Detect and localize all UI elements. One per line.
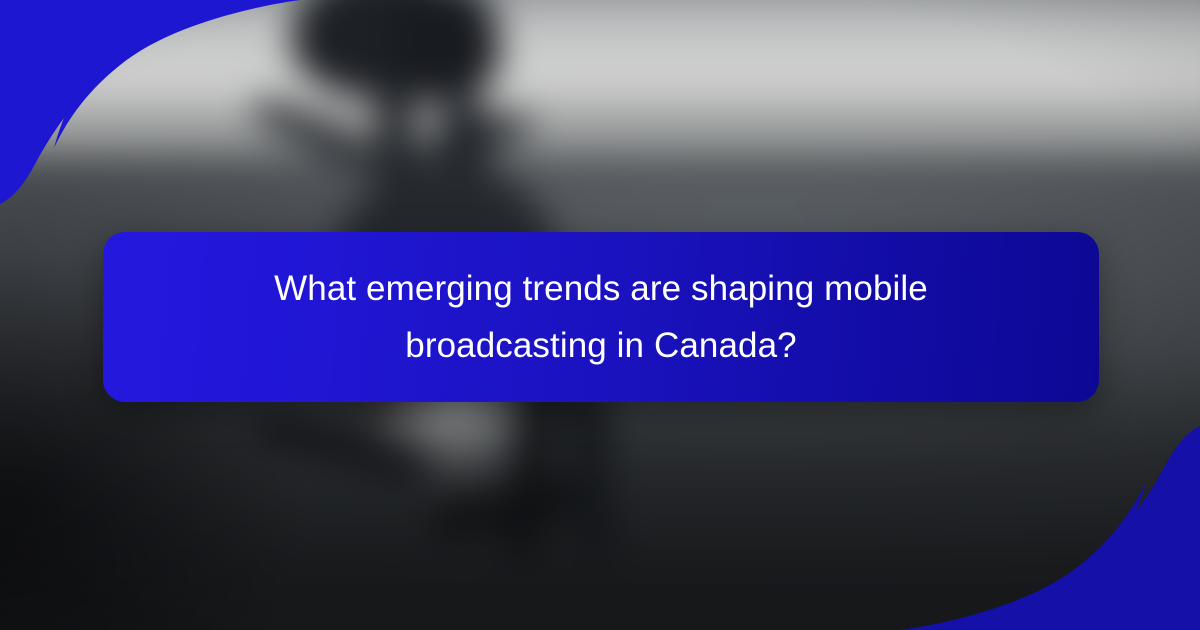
question-card: What emerging trends are shaping mobile …: [103, 232, 1099, 402]
background-sky-band: [0, 0, 1200, 165]
question-text: What emerging trends are shaping mobile …: [221, 260, 981, 374]
question-line-2: broadcasting in Canada?: [405, 326, 796, 365]
question-line-1: What emerging trends are shaping mobile: [274, 269, 928, 308]
social-card-canvas: What emerging trends are shaping mobile …: [0, 0, 1200, 630]
background-far-shore: [0, 108, 1200, 130]
background-horizon-strip: [0, 0, 1200, 10]
